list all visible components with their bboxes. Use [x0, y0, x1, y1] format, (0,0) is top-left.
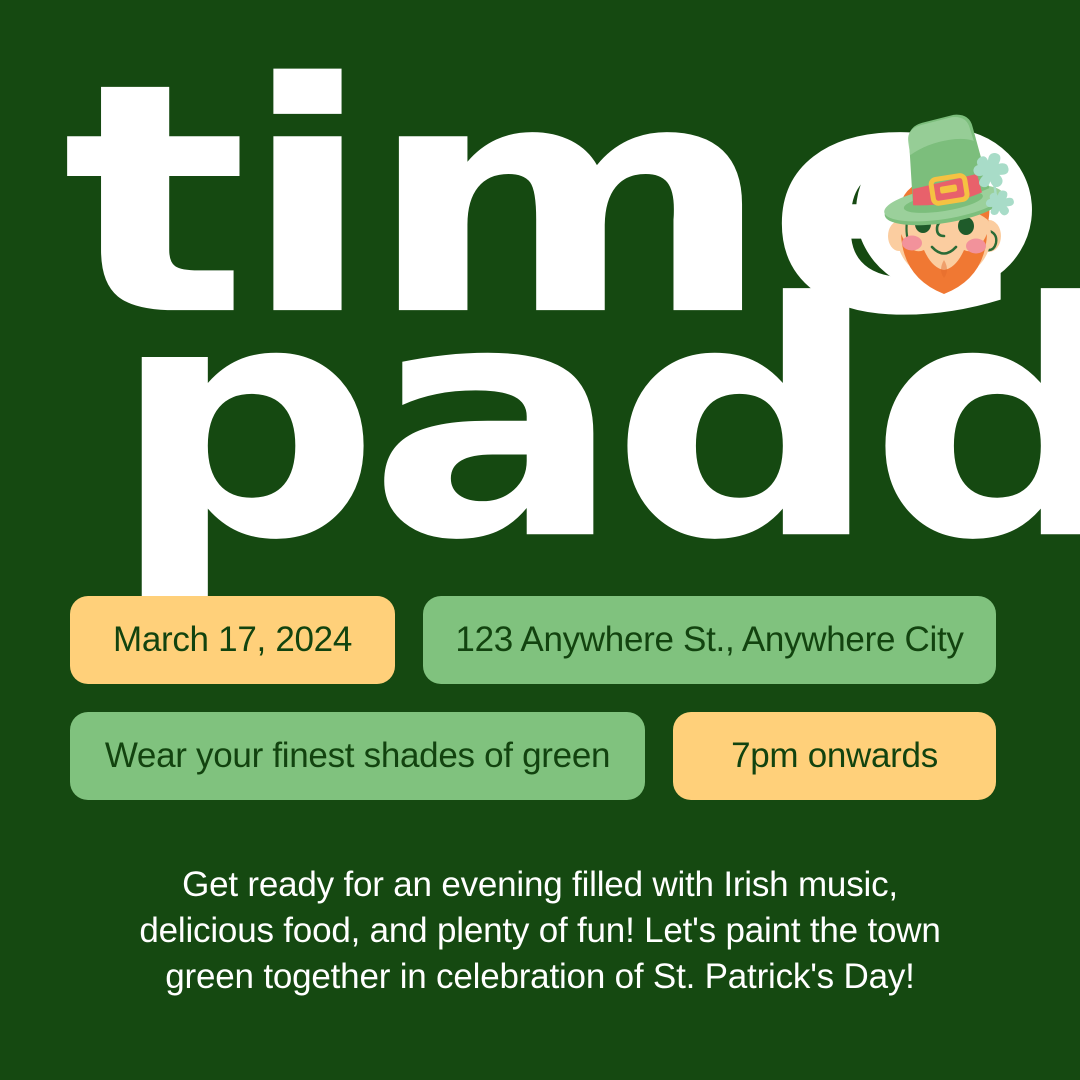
detail-time[interactable]: 7pm onwards — [673, 712, 996, 800]
detail-dress-code[interactable]: Wear your finest shades of green — [70, 712, 645, 800]
body-copy-line-3: green together in celebration of St. Pat… — [95, 954, 985, 1000]
detail-pill-row-2: Wear your finest shades of green 7pm onw… — [70, 712, 996, 800]
detail-date[interactable]: March 17, 2024 — [70, 596, 395, 684]
poster-canvas: time t paddy! — [0, 0, 1080, 1080]
detail-address[interactable]: 123 Anywhere St., Anywhere City — [423, 596, 996, 684]
body-copy: Get ready for an evening filled with Iri… — [0, 862, 1080, 1000]
detail-pill-row-1: March 17, 2024 123 Anywhere St., Anywher… — [70, 596, 996, 684]
headline-line-2-text: paddy! — [110, 299, 1080, 547]
body-copy-line-1: Get ready for an evening filled with Iri… — [95, 862, 985, 908]
leprechaun-badge — [856, 110, 1032, 306]
detail-pills: March 17, 2024 123 Anywhere St., Anywher… — [70, 596, 996, 828]
leprechaun-face-icon — [856, 110, 1032, 306]
body-copy-line-2: delicious food, and plenty of fun! Let's… — [95, 908, 985, 954]
headline-line-2: paddy! — [62, 308, 1080, 548]
